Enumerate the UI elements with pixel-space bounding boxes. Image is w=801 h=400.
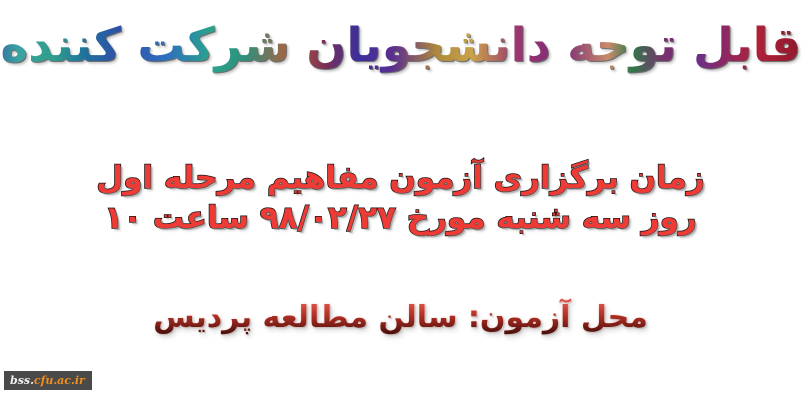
watermark-domain: cfu.ac.ir [34,374,85,387]
site-watermark: bss.cfu.ac.ir [4,371,92,390]
announcement-block: زمان برگزاری آزمون مفاهیم مرحله اول روز … [0,158,801,238]
exam-time-line-2: روز سه شنبه مورخ ۹۸/۰۲/۲۷ ساعت ۱۰ [0,198,801,238]
exam-time-line-1: زمان برگزاری آزمون مفاهیم مرحله اول [0,158,801,198]
venue-container: محل آزمون: سالن مطالعه پردیس [0,296,801,340]
announcement-poster: قابل توجه دانشجویان شرکت کننده در طرح سر… [0,0,801,400]
watermark-prefix: bss [10,374,30,387]
headline-container: قابل توجه دانشجویان شرکت کننده در طرح سر… [0,8,801,94]
exam-venue-line: محل آزمون: سالن مطالعه پردیس [153,296,648,340]
poster-headline: قابل توجه دانشجویان شرکت کننده در طرح سر… [0,8,801,84]
